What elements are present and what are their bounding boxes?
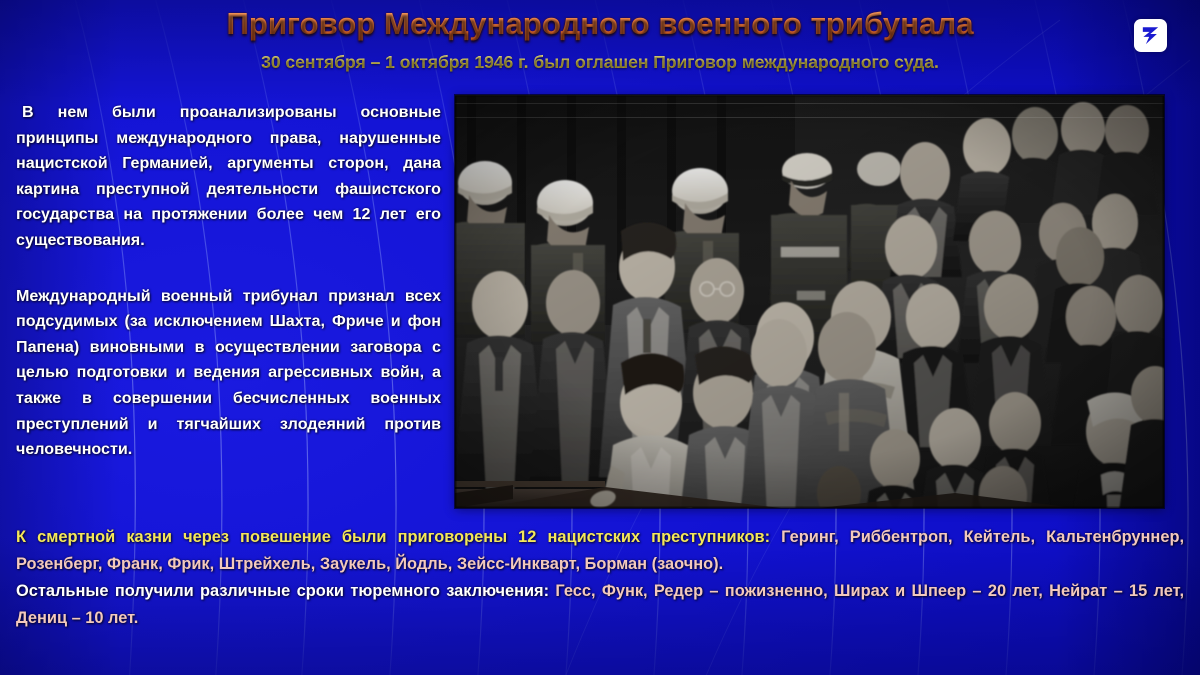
slide-root: Приговор Международного военного трибуна… [0, 0, 1200, 675]
paragraph-verdict: Международный военный трибунал признал в… [16, 284, 441, 463]
sentence-death-penalty: К смертной казни через повешение были пр… [16, 524, 1184, 578]
left-text-column: В нем были проанализированы основные при… [16, 100, 441, 463]
zvuk-z-logo-icon[interactable] [1134, 19, 1167, 52]
paragraph-analysis: В нем были проанализированы основные при… [16, 100, 441, 254]
bottom-text-block: К смертной казни через повешение были пр… [16, 524, 1184, 632]
death-sentence-lead: К смертной казни через повешение были пр… [16, 528, 781, 546]
nuremberg-defendants-dock-photo [455, 95, 1164, 508]
slide-header: Приговор Международного военного трибуна… [0, 8, 1200, 73]
slide-subtitle: 30 сентября – 1 октября 1946 г. был огла… [0, 52, 1200, 73]
prison-terms-lead: Остальные получили различные сроки тюрем… [16, 582, 555, 600]
sentence-prison-terms: Остальные получили различные сроки тюрем… [16, 578, 1184, 632]
slide-title: Приговор Международного военного трибуна… [0, 8, 1200, 41]
